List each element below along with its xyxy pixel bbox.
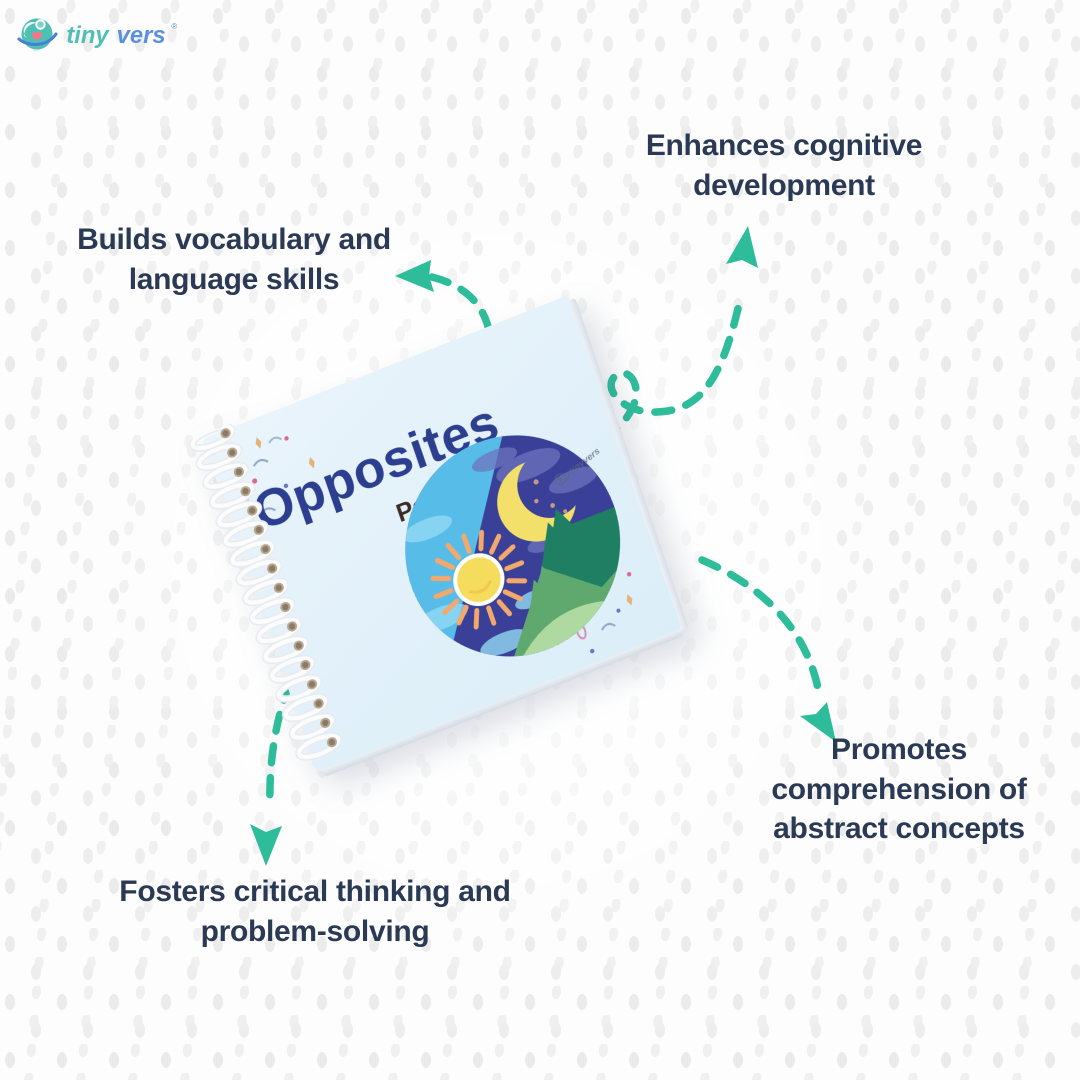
brand-wordmark: tiny vers ® xyxy=(66,20,199,50)
svg-text:vers: vers xyxy=(117,22,166,49)
tinyvers-swoosh-heart-icon xyxy=(16,14,58,56)
brand-logo[interactable]: tiny vers ® xyxy=(16,14,199,56)
callout-promotes-comprehension-of-abstract-concepts: Promotes comprehension of abstract conce… xyxy=(744,730,1054,849)
opposites-part-2-book: Opposites Part 2 xyxy=(202,296,681,773)
svg-text:®: ® xyxy=(171,22,177,31)
product-image: Opposites Part 2 xyxy=(186,318,746,818)
callout-builds-vocabulary-and-language-skills: Builds vocabulary and language skills xyxy=(34,220,434,299)
callout-fosters-critical-thinking-and-problem-solving: Fosters critical thinking and problem-so… xyxy=(80,872,550,951)
svg-text:tiny: tiny xyxy=(66,22,110,49)
callout-enhances-cognitive-development: Enhances cognitive development xyxy=(624,126,944,205)
poster-canvas: tiny vers ® xyxy=(0,0,1080,1080)
